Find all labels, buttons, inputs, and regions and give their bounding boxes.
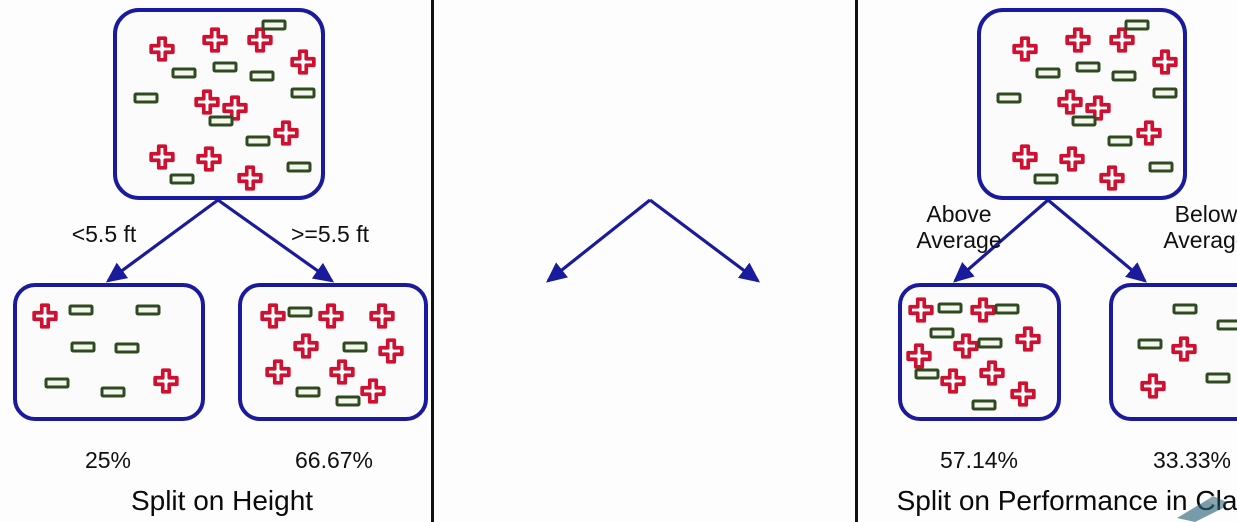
green-minus-icon	[342, 341, 368, 353]
green-minus-icon	[287, 306, 313, 318]
red-plus-icon	[202, 27, 228, 53]
panel-split-on-performance: Above Average Below Average 57.14% 33.33…	[431, 0, 855, 522]
green-minus-icon	[290, 87, 316, 99]
red-plus-icon	[149, 36, 175, 62]
green-minus-icon	[169, 173, 195, 185]
red-plus-icon	[153, 368, 179, 394]
green-minus-icon	[114, 342, 140, 354]
percent-label-right: 66.67%	[295, 447, 373, 474]
red-plus-icon	[378, 338, 404, 364]
green-minus-icon	[261, 19, 287, 31]
green-minus-icon	[100, 386, 126, 398]
green-minus-icon	[245, 135, 271, 147]
red-plus-icon	[293, 333, 319, 359]
green-minus-icon	[44, 377, 70, 389]
red-plus-icon	[290, 49, 316, 75]
red-plus-icon	[196, 146, 222, 172]
red-plus-icon	[318, 303, 344, 329]
green-minus-icon	[70, 341, 96, 353]
green-minus-icon	[286, 161, 312, 173]
percent-label-left: 25%	[85, 447, 131, 474]
red-plus-icon	[329, 359, 355, 385]
red-plus-icon	[194, 89, 220, 115]
panel-caption: Split on Height	[131, 485, 313, 517]
red-plus-icon	[32, 303, 58, 329]
root-node	[113, 8, 325, 200]
edge-label-left: <5.5 ft	[72, 222, 137, 248]
green-minus-icon	[135, 304, 161, 316]
child-node-left	[13, 283, 205, 421]
red-plus-icon	[273, 120, 299, 146]
green-minus-icon	[68, 304, 94, 316]
red-plus-icon	[149, 144, 175, 170]
red-plus-icon	[369, 303, 395, 329]
panel-split-on-height: <5.5 ft >=5.5 ft 25% 66.67% Split on Hei…	[0, 0, 431, 522]
red-plus-icon	[360, 378, 386, 404]
decision-tree-figure: <5.5 ft >=5.5 ft 25% 66.67% Split on Hei…	[0, 0, 1237, 522]
green-minus-icon	[249, 70, 275, 82]
red-plus-icon	[265, 359, 291, 385]
green-minus-icon	[212, 61, 238, 73]
red-plus-icon	[260, 303, 286, 329]
green-minus-icon	[208, 115, 234, 127]
green-minus-icon	[335, 395, 361, 407]
child-node-right	[238, 283, 428, 421]
green-minus-icon	[133, 92, 159, 104]
edge-label-right: >=5.5 ft	[291, 222, 369, 248]
green-minus-icon	[171, 67, 197, 79]
red-plus-icon	[237, 165, 263, 191]
green-minus-icon	[295, 386, 321, 398]
panel-split-on-class: Class IX Class X 80% 20% Split on Class	[855, 0, 1237, 522]
